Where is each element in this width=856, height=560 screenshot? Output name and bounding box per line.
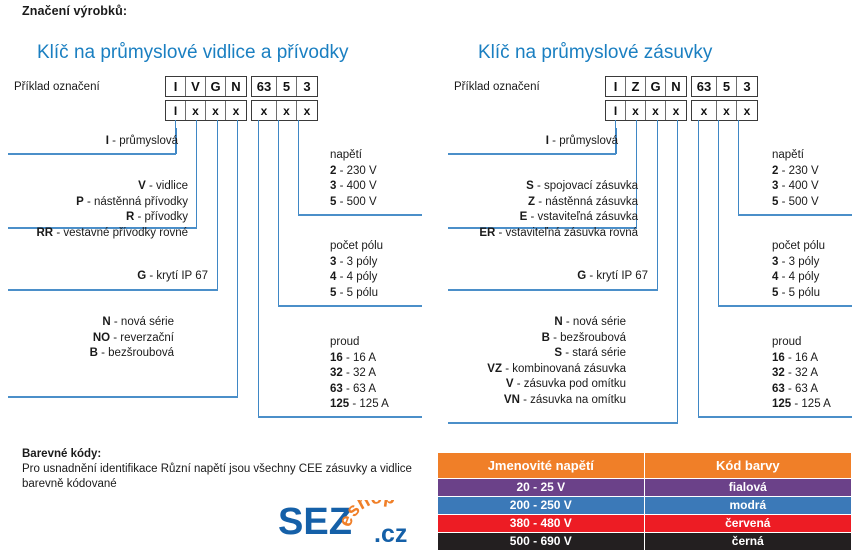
- group-row: 5 - 500 V: [330, 195, 377, 211]
- leader-line: [278, 120, 279, 306]
- mask-cell: x: [646, 101, 666, 120]
- code-cell: Z: [626, 77, 646, 96]
- definition-row: I - průmyslová: [448, 134, 618, 150]
- column-header-voltage: Jmenovité napětí: [438, 453, 645, 479]
- page-title: Značení výrobků:: [22, 4, 127, 18]
- table-row: 500 - 690 V černá: [438, 533, 852, 551]
- table-row: 20 - 25 V fialová: [438, 479, 852, 497]
- group-row: 3 - 3 póly: [330, 255, 383, 271]
- note-body: Pro usnadnění identifikace Různí napětí …: [22, 462, 422, 492]
- leader-line: [718, 120, 719, 306]
- group-row: 3 - 400 V: [772, 179, 819, 195]
- code-cell: I: [606, 77, 626, 96]
- group-header: počet pólu: [330, 239, 383, 255]
- mask-cell: x: [226, 101, 246, 120]
- code-cell: N: [226, 77, 246, 96]
- definition-row: I - průmyslová: [8, 134, 178, 150]
- left-block-series: N - nová série NO - reverzační B - bezšr…: [8, 315, 174, 362]
- leader-line: [657, 120, 658, 290]
- code-cell: G: [206, 77, 226, 96]
- left-example-label: Příklad označení: [14, 81, 100, 93]
- group-header: napětí: [772, 148, 819, 164]
- leader-line: [258, 416, 422, 418]
- mask-cell: x: [277, 101, 297, 120]
- note-title: Barevné kódy:: [22, 448, 101, 460]
- column-header-color: Kód barvy: [644, 453, 851, 479]
- cell-color-name: modrá: [644, 497, 851, 515]
- leader-line: [738, 214, 852, 216]
- color-code-table: Jmenovité napětí Kód barvy 20 - 25 V fia…: [437, 452, 852, 551]
- mask-cell: I: [166, 101, 186, 120]
- leader-line: [698, 120, 699, 417]
- group-row: 32 - 32 A: [330, 366, 389, 382]
- definition-row: NO - reverzační: [8, 331, 174, 347]
- left-mask-group-letters: I x x x: [165, 100, 247, 121]
- definition-row: ER - vstaviteľná zásuvka rovná: [448, 226, 638, 242]
- left-block-protection: G - krytí IP 67: [8, 269, 208, 285]
- definition-row: Z - nástěnná zásuvka: [448, 195, 638, 211]
- left-code-row-1: I V G N 63 5 3: [165, 76, 318, 97]
- group-row: 3 - 400 V: [330, 179, 377, 195]
- mask-cell: x: [186, 101, 206, 120]
- definition-row: G - krytí IP 67: [8, 269, 208, 285]
- code-cell: V: [186, 77, 206, 96]
- leader-line: [448, 153, 616, 155]
- code-cell: 3: [737, 77, 757, 96]
- leader-line: [718, 305, 852, 307]
- logo-suffix-text: .cz: [374, 520, 407, 548]
- group-row: 2 - 230 V: [772, 164, 819, 180]
- definition-row: N - nová série: [448, 315, 626, 331]
- group-row: 125 - 125 A: [330, 397, 389, 413]
- group-header: proud: [772, 335, 831, 351]
- cell-voltage: 380 - 480 V: [438, 515, 645, 533]
- mask-cell: x: [252, 101, 277, 120]
- right-code-row-1: I Z G N 63 5 3: [605, 76, 758, 97]
- table-row: 380 - 480 V červená: [438, 515, 852, 533]
- leader-line: [298, 120, 299, 215]
- group-row: 5 - 5 pólu: [330, 286, 383, 302]
- group-row: 4 - 4 póly: [772, 270, 825, 286]
- leader-line: [8, 153, 176, 155]
- leader-line: [8, 289, 218, 291]
- group-row: 125 - 125 A: [772, 397, 831, 413]
- group-row: 4 - 4 póly: [330, 270, 383, 286]
- mask-cell: x: [666, 101, 686, 120]
- left-current-group: proud 16 - 16 A 32 - 32 A 63 - 63 A 125 …: [330, 335, 389, 413]
- definition-row: VZ - kombinovaná zásuvka: [448, 362, 626, 378]
- group-header: proud: [330, 335, 389, 351]
- mask-cell: x: [737, 101, 757, 120]
- sez-eshop-logo[interactable]: SEZ eshop .cz: [278, 500, 438, 552]
- right-voltage-group: napětí 2 - 230 V 3 - 400 V 5 - 500 V: [772, 148, 819, 210]
- code-cell: 5: [717, 77, 737, 96]
- group-header: počet pólu: [772, 239, 825, 255]
- code-cell: 63: [692, 77, 717, 96]
- group-row: 16 - 16 A: [330, 351, 389, 367]
- left-voltage-group: napětí 2 - 230 V 3 - 400 V 5 - 500 V: [330, 148, 377, 210]
- definition-row: S - stará série: [448, 346, 626, 362]
- group-row: 5 - 5 pólu: [772, 286, 825, 302]
- cell-color-name: červená: [644, 515, 851, 533]
- group-row: 16 - 16 A: [772, 351, 831, 367]
- group-row: 2 - 230 V: [330, 164, 377, 180]
- right-poles-group: počet pólu 3 - 3 póly 4 - 4 póly 5 - 5 p…: [772, 239, 825, 301]
- definition-row: N - nová série: [8, 315, 174, 331]
- definition-row: RR - vestavné přívodky rovné: [8, 226, 188, 242]
- group-header: napětí: [330, 148, 377, 164]
- diagram-page: Značení výrobků: Klíč na průmyslové vidl…: [0, 0, 856, 560]
- right-code-group-letters: I Z G N: [605, 76, 687, 97]
- logo-svg: SEZ eshop .cz: [278, 500, 438, 552]
- right-code-group-numbers: 63 5 3: [691, 76, 758, 97]
- mask-cell: x: [692, 101, 717, 120]
- definition-row: B - bezšroubová: [448, 331, 626, 347]
- leader-line: [278, 305, 422, 307]
- code-cell: 5: [277, 77, 297, 96]
- code-cell: 63: [252, 77, 277, 96]
- definition-row: V - vidlice: [8, 179, 188, 195]
- cell-color-name: fialová: [644, 479, 851, 497]
- definition-row: V - zásuvka pod omítku: [448, 377, 626, 393]
- leader-line: [196, 120, 197, 228]
- left-mask-group-numbers: x x x: [251, 100, 318, 121]
- right-code-row-2: I x x x x x x: [605, 100, 758, 121]
- mask-cell: x: [297, 101, 317, 120]
- group-row: 5 - 500 V: [772, 195, 819, 211]
- leader-line: [258, 120, 259, 417]
- leader-line: [298, 214, 422, 216]
- cell-voltage: 500 - 690 V: [438, 533, 645, 551]
- right-block-series: N - nová série B - bezšroubová S - stará…: [448, 315, 626, 408]
- leader-line: [698, 416, 852, 418]
- right-block-industrial: I - průmyslová: [448, 134, 618, 150]
- definition-row: R - přívodky: [8, 210, 188, 226]
- table-row: 200 - 250 V modrá: [438, 497, 852, 515]
- code-cell: 3: [297, 77, 317, 96]
- table-header-row: Jmenovité napětí Kód barvy: [438, 453, 852, 479]
- cell-voltage: 20 - 25 V: [438, 479, 645, 497]
- right-example-label: Příklad označení: [454, 81, 540, 93]
- group-row: 63 - 63 A: [772, 382, 831, 398]
- group-row: 3 - 3 póly: [772, 255, 825, 271]
- left-poles-group: počet pólu 3 - 3 póly 4 - 4 póly 5 - 5 p…: [330, 239, 383, 301]
- group-row: 32 - 32 A: [772, 366, 831, 382]
- mask-cell: x: [717, 101, 737, 120]
- right-current-group: proud 16 - 16 A 32 - 32 A 63 - 63 A 125 …: [772, 335, 831, 413]
- left-code-group-letters: I V G N: [165, 76, 247, 97]
- definition-row: B - bezšroubová: [8, 346, 174, 362]
- code-cell: I: [166, 77, 186, 96]
- definition-row: VN - zásuvka na omítku: [448, 393, 626, 409]
- left-key-title: Klíč na průmyslové vidlice a přívodky: [37, 42, 349, 64]
- left-code-group-numbers: 63 5 3: [251, 76, 318, 97]
- code-cell: G: [646, 77, 666, 96]
- leader-line: [677, 120, 678, 423]
- definition-row: P - nástěnná přívodky: [8, 195, 188, 211]
- mask-cell: I: [606, 101, 626, 120]
- definition-row: E - vstaviteľná zásuvka: [448, 210, 638, 226]
- definition-row: S - spojovací zásuvka: [448, 179, 638, 195]
- left-block-industrial: I - průmyslová: [8, 134, 178, 150]
- left-code-row-2: I x x x x x x: [165, 100, 318, 121]
- cell-color-name: černá: [644, 533, 851, 551]
- leader-line: [448, 422, 678, 424]
- cell-voltage: 200 - 250 V: [438, 497, 645, 515]
- right-block-protection: G - krytí IP 67: [448, 269, 648, 285]
- mask-cell: x: [626, 101, 646, 120]
- leader-line: [217, 120, 218, 290]
- code-cell: N: [666, 77, 686, 96]
- leader-line: [237, 120, 238, 397]
- right-mask-group-letters: I x x x: [605, 100, 687, 121]
- left-block-type: V - vidlice P - nástěnná přívodky R - př…: [8, 179, 188, 241]
- leader-line: [8, 396, 238, 398]
- leader-line: [738, 120, 739, 215]
- right-block-type: S - spojovací zásuvka Z - nástěnná zásuv…: [448, 179, 638, 241]
- group-row: 63 - 63 A: [330, 382, 389, 398]
- definition-row: G - krytí IP 67: [448, 269, 648, 285]
- leader-line: [448, 289, 658, 291]
- right-key-title: Klíč na průmyslové zásuvky: [478, 42, 712, 64]
- right-mask-group-numbers: x x x: [691, 100, 758, 121]
- mask-cell: x: [206, 101, 226, 120]
